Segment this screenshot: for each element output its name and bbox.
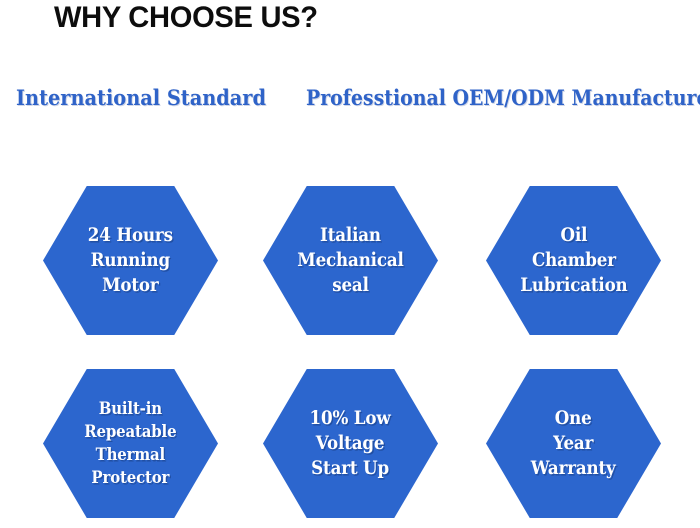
feature-hexagon-label: Built-in Repeatable Thermal Protector [79,398,182,490]
feature-hexagon-label: 10% Low Voltage Start Up [305,406,397,481]
feature-hexagon-oil-chamber-lubrication[interactable]: Oil Chamber Lubrication [486,186,661,335]
feature-hexagon-grid: 24 Hours Running Motor Italian Mechanica… [0,0,700,528]
feature-hexagon-10-percent-low-voltage-start-up[interactable]: 10% Low Voltage Start Up [263,369,438,518]
feature-hexagon-italian-mechanical-seal[interactable]: Italian Mechanical seal [263,186,438,335]
feature-hexagon-one-year-warranty[interactable]: One Year Warranty [486,369,661,518]
feature-hexagon-24-hours-running-motor[interactable]: 24 Hours Running Motor [43,186,218,335]
feature-hexagon-label: One Year Warranty [526,406,621,481]
why-choose-us-slide: WHY CHOOSE US? International Standard Pr… [0,0,700,528]
feature-hexagon-label: Italian Mechanical seal [292,223,409,298]
feature-hexagon-label: 24 Hours Running Motor [83,223,179,298]
feature-hexagon-label: Oil Chamber Lubrication [515,223,633,298]
feature-hexagon-built-in-repeatable-thermal-protector[interactable]: Built-in Repeatable Thermal Protector [43,369,218,518]
